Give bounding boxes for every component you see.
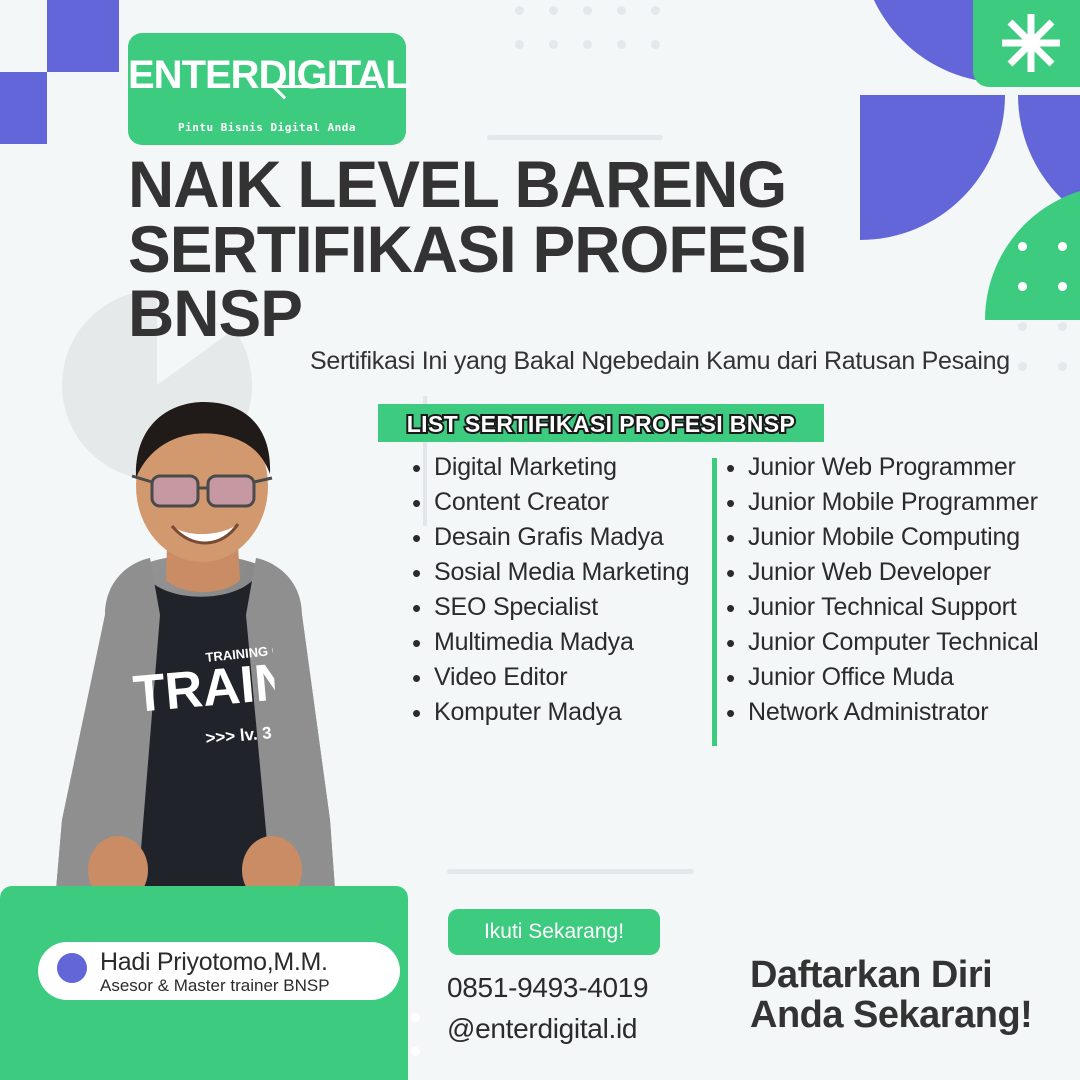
bullet-icon: • <box>412 700 434 726</box>
list-item-label: Junior Technical Support <box>748 595 1017 620</box>
bullet-icon: • <box>412 595 434 621</box>
bullet-icon: • <box>726 490 748 516</box>
decor-dot <box>1058 282 1067 291</box>
decor-dot <box>651 40 660 49</box>
bullet-icon: • <box>412 455 434 481</box>
logo-enter-text: ENTER <box>128 53 259 97</box>
list-item-label: Junior Mobile Programmer <box>748 490 1038 515</box>
logo-wordmark: ENTERDIGITAL <box>128 55 406 95</box>
decor-dot <box>549 40 558 49</box>
bullet-icon: • <box>726 595 748 621</box>
list-item: •Junior Mobile Programmer <box>726 490 1080 516</box>
page-title: NAIK LEVEL BARENG SERTIFIKASI PROFESI BN… <box>128 152 1001 346</box>
decor-dot <box>549 6 558 15</box>
list-banner: LIST SERTIFIKASI PROFESI BNSP <box>378 404 824 442</box>
list-item-label: Komputer Madya <box>434 700 622 725</box>
closing-line-1: Daftarkan Diri <box>750 955 1080 995</box>
list-item: •Content Creator <box>412 490 722 516</box>
list-item: •Digital Marketing <box>412 455 722 481</box>
decor-dot <box>515 40 524 49</box>
closing-callout: Daftarkan Diri Anda Sekarang! <box>750 955 1080 1036</box>
presenter-role: Asesor & Master trainer BNSP <box>100 976 400 996</box>
decor-dot <box>1058 322 1067 331</box>
decor-dot <box>515 6 524 15</box>
list-item-label: Junior Web Developer <box>748 560 991 585</box>
list-item-label: Junior Office Muda <box>748 665 954 690</box>
list-item: •Desain Grafis Madya <box>412 525 722 551</box>
certification-list-left: •Digital Marketing•Content Creator•Desai… <box>412 455 722 735</box>
decor-dot <box>617 40 626 49</box>
closing-line-2: Anda Sekarang! <box>750 995 1080 1035</box>
list-item: •Video Editor <box>412 665 722 691</box>
headline-line-1: NAIK LEVEL BARENG <box>128 152 1001 217</box>
divider-top <box>487 135 663 140</box>
bullet-icon: • <box>412 525 434 551</box>
cta-button-label: Ikuti Sekarang! <box>448 920 660 944</box>
decor-dot <box>411 1013 420 1022</box>
bullet-icon: • <box>726 560 748 586</box>
bullet-icon: • <box>412 665 434 691</box>
list-item-label: Junior Web Programmer <box>748 455 1016 480</box>
contact-handle[interactable]: @enterdigital.id <box>447 1013 637 1045</box>
decor-dot <box>1018 282 1027 291</box>
poster-canvas: ENTERDIGITAL Pintu Bisnis Digital Anda N… <box>0 0 1080 1080</box>
list-item: •Junior Technical Support <box>726 595 1080 621</box>
logo-tagline: Pintu Bisnis Digital Anda <box>128 121 406 134</box>
decor-dot <box>1018 242 1027 251</box>
certification-list-right: •Junior Web Programmer•Junior Mobile Pro… <box>726 455 1080 735</box>
bullet-icon: • <box>412 490 434 516</box>
asterisk-icon <box>1000 12 1062 74</box>
decor-dot <box>1018 322 1027 331</box>
bullet-icon: • <box>412 630 434 656</box>
presenter-avatar-dot <box>57 953 87 983</box>
divider-bottom <box>447 869 694 874</box>
list-accent-line <box>712 458 717 746</box>
list-item: •Junior Office Muda <box>726 665 1080 691</box>
list-item: •Junior Computer Technical <box>726 630 1080 656</box>
list-item: •Junior Web Developer <box>726 560 1080 586</box>
decor-dot <box>583 6 592 15</box>
bullet-icon: • <box>726 525 748 551</box>
list-item-label: Junior Mobile Computing <box>748 525 1020 550</box>
bullet-icon: • <box>726 630 748 656</box>
decor-square-purple-top <box>47 0 119 72</box>
headline-subtitle: Sertifikasi Ini yang Bakal Ngebedain Kam… <box>310 347 1080 376</box>
headline-line-3: BNSP <box>128 281 1001 346</box>
decor-dot <box>617 6 626 15</box>
presenter-name: Hadi Priyotomo,M.M. <box>100 948 400 977</box>
list-item: •Junior Mobile Computing <box>726 525 1080 551</box>
brand-logo: ENTERDIGITAL Pintu Bisnis Digital Anda <box>128 33 406 145</box>
list-item: •Multimedia Madya <box>412 630 722 656</box>
list-item-label: Network Administrator <box>748 700 988 725</box>
bullet-icon: • <box>726 455 748 481</box>
list-item-label: Content Creator <box>434 490 609 515</box>
list-banner-title: LIST SERTIFIKASI PROFESI BNSP <box>378 411 824 438</box>
list-item-label: Sosial Media Marketing <box>434 560 689 585</box>
list-item-label: Multimedia Madya <box>434 630 634 655</box>
decor-dot <box>411 1047 420 1056</box>
decor-dot <box>1058 242 1067 251</box>
list-item-label: Desain Grafis Madya <box>434 525 664 550</box>
presenter-photo: TRAINING OF TRAINER >>> lv. 3 <box>10 400 390 960</box>
decor-square-purple-left <box>0 72 47 144</box>
list-item-label: Video Editor <box>434 665 567 690</box>
contact-phone[interactable]: 0851-9493-4019 <box>447 972 648 1004</box>
list-item: •Network Administrator <box>726 700 1080 726</box>
list-item: •Komputer Madya <box>412 700 722 726</box>
headline-line-2: SERTIFIKASI PROFESI <box>128 217 1001 282</box>
bullet-icon: • <box>412 560 434 586</box>
logo-digital-text: DIGITAL <box>259 53 409 97</box>
list-item-label: Junior Computer Technical <box>748 630 1039 655</box>
list-item-label: Digital Marketing <box>434 455 617 480</box>
list-item-label: SEO Specialist <box>434 595 598 620</box>
list-item: •Junior Web Programmer <box>726 455 1080 481</box>
bullet-icon: • <box>726 700 748 726</box>
bullet-icon: • <box>726 665 748 691</box>
list-item: •SEO Specialist <box>412 595 722 621</box>
decor-dot <box>583 40 592 49</box>
cta-button[interactable]: Ikuti Sekarang! <box>448 909 660 955</box>
decor-dot <box>651 6 660 15</box>
list-item: •Sosial Media Marketing <box>412 560 722 586</box>
